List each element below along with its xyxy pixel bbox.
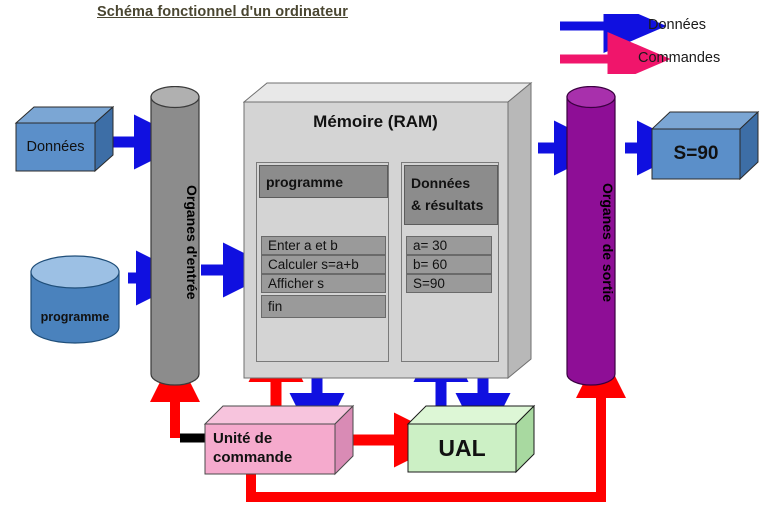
memory-data-value: S=90 xyxy=(406,274,492,293)
program-store-cylinder[interactable]: programme xyxy=(30,255,120,345)
memory-title: Mémoire (RAM) xyxy=(243,112,508,132)
control-unit-label-line2: commande xyxy=(213,449,292,468)
input-data-box-label: Données xyxy=(16,123,95,171)
box-top-face xyxy=(408,406,534,424)
memory-program-panel: programme Enter a et b Calculer s=a+b Af… xyxy=(256,162,389,362)
memory-data-panel-header-line2: & résultats xyxy=(411,195,483,217)
legend: Données Commandes xyxy=(560,14,775,74)
legend-label-donnees: Données xyxy=(648,17,706,33)
memory-program-line: Afficher s xyxy=(261,274,386,293)
input-data-box[interactable]: Données xyxy=(14,105,114,173)
memory-program-line: fin xyxy=(261,295,386,318)
box-top-face xyxy=(205,406,353,424)
memory-data-panel-header: Données & résultats xyxy=(404,165,498,225)
memory-data-value: b= 60 xyxy=(406,255,492,274)
output-unit-cylinder[interactable]: Organes de sortie xyxy=(566,86,616,386)
control-unit-label-line1: Unité de xyxy=(213,430,272,449)
memory-program-line: Calculer s=a+b xyxy=(261,255,386,274)
program-store-label: programme xyxy=(30,310,120,324)
page-title: Schéma fonctionnel d'un ordinateur xyxy=(97,4,348,20)
cylinder-top-cap xyxy=(31,256,119,288)
legend-label-commandes: Commandes xyxy=(638,50,720,66)
input-unit-label: Organes d'entrée xyxy=(150,112,200,372)
cylinder-top-cap xyxy=(567,87,615,108)
output-result-label: S=90 xyxy=(652,129,740,179)
memory-data-panel: Données & résultats a= 30 b= 60 S=90 xyxy=(401,162,499,362)
ram-side-face xyxy=(508,83,531,378)
memory-program-panel-header: programme xyxy=(259,165,388,198)
alu-label: UAL xyxy=(408,424,516,472)
memory-data-panel-header-line1: Données xyxy=(411,173,470,195)
input-unit-cylinder[interactable]: Organes d'entrée xyxy=(150,86,200,386)
memory-box[interactable]: Mémoire (RAM) programme Enter a et b Cal… xyxy=(243,82,533,379)
alu-box[interactable]: UAL xyxy=(406,404,536,474)
memory-program-line: Enter a et b xyxy=(261,236,386,255)
ram-top-face xyxy=(244,83,531,102)
control-unit-label: Unité de commande xyxy=(209,424,335,474)
cylinder-top-cap xyxy=(151,87,199,108)
output-result-box[interactable]: S=90 xyxy=(650,110,760,180)
control-unit-box[interactable]: Unité de commande xyxy=(203,404,355,477)
output-unit-label: Organes de sortie xyxy=(566,110,616,375)
memory-data-value: a= 30 xyxy=(406,236,492,255)
diagram-canvas: Schéma fonctionnel d'un ordinateur Donné… xyxy=(0,0,779,512)
